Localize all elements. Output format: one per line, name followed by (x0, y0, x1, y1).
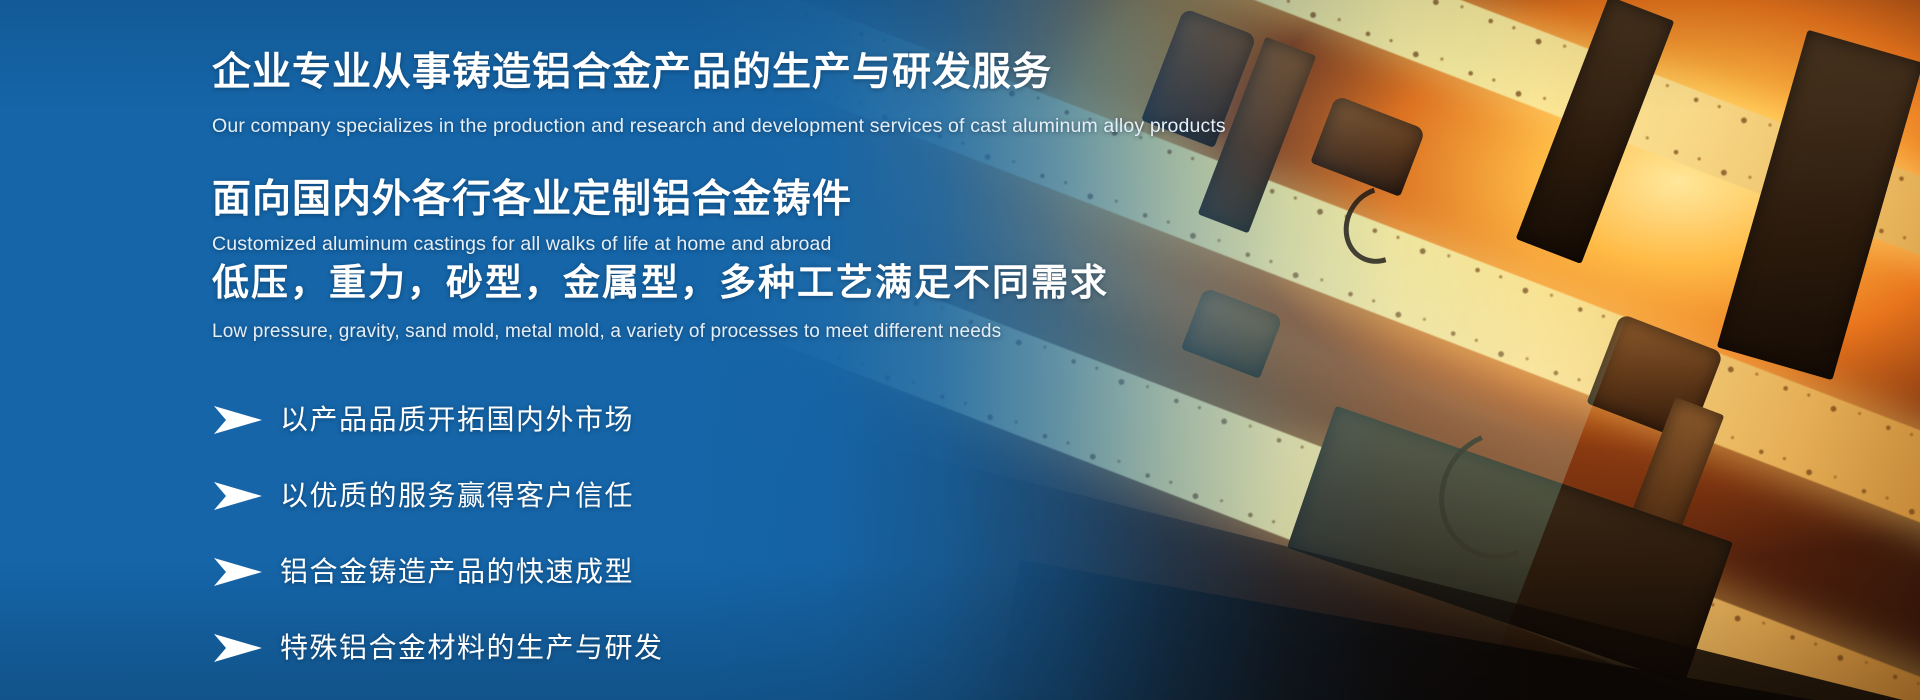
bullet-label: 特殊铝合金材料的生产与研发 (280, 634, 664, 662)
headline-2-zh: 面向国内外各行各业定制铝合金铸件 (212, 177, 852, 222)
headline-3-en: Low pressure, gravity, sand mold, metal … (212, 320, 1001, 345)
bullet-label: 以优质的服务赢得客户信任 (280, 482, 634, 510)
arrow-right-icon (212, 632, 264, 664)
arrow-right-icon (212, 556, 264, 588)
arrow-right-icon (212, 404, 264, 436)
hero-banner: 企业专业从事铸造铝合金产品的生产与研发服务 Our company specia… (0, 0, 1920, 700)
list-item[interactable]: 特殊铝合金材料的生产与研发 (212, 618, 912, 678)
headline-1-en: Our company specializes in the productio… (212, 114, 1226, 139)
bullet-label: 以产品品质开拓国内外市场 (280, 406, 634, 434)
list-item[interactable]: 铝合金铸造产品的快速成型 (212, 542, 912, 602)
headline-1-zh: 企业专业从事铸造铝合金产品的生产与研发服务 (212, 50, 1052, 95)
bullet-label: 铝合金铸造产品的快速成型 (280, 558, 634, 586)
headline-3-zh: 低压，重力，砂型，金属型，多种工艺满足不同需求 (212, 262, 1109, 305)
headline-2-en: Customized aluminum castings for all wal… (212, 232, 831, 257)
list-item[interactable]: 以产品品质开拓国内外市场 (212, 390, 912, 450)
banner-content: 企业专业从事铸造铝合金产品的生产与研发服务 Our company specia… (212, 0, 1512, 700)
list-item[interactable]: 以优质的服务赢得客户信任 (212, 466, 912, 526)
feature-bullet-list: 以产品品质开拓国内外市场 以优质的服务赢得客户信任 铝合金铸造产品的快速成型 特… (212, 390, 912, 678)
arrow-right-icon (212, 480, 264, 512)
